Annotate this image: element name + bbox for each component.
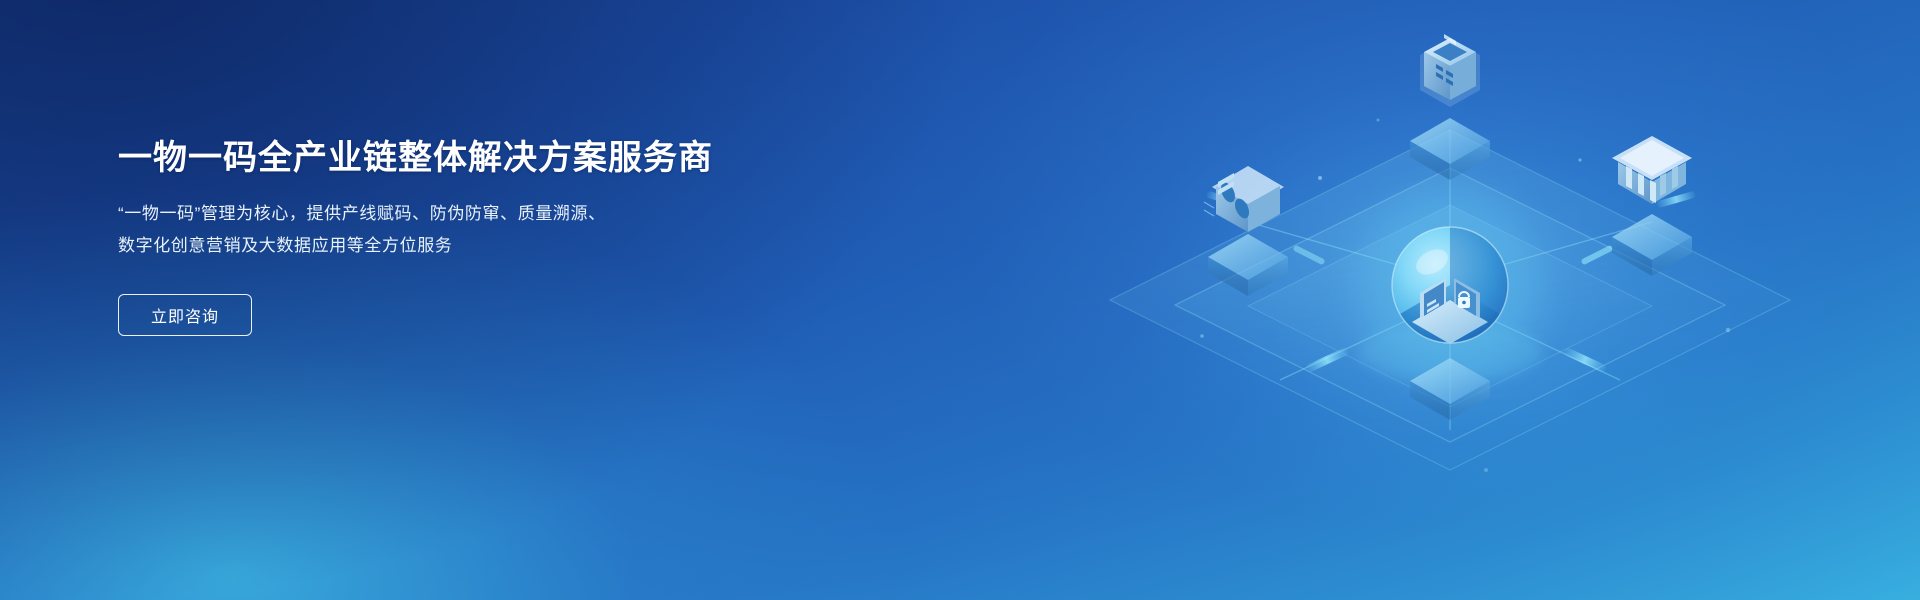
subtitle-line-1: “一物一码”管理为核心，提供产线赋码、防伪防窜、质量溯源、 [118, 198, 818, 230]
hero-subtitle: “一物一码”管理为核心，提供产线赋码、防伪防窜、质量溯源、 数字化创意营销及大数… [118, 198, 818, 262]
consult-now-button[interactable]: 立即咨询 [118, 294, 252, 336]
hero-copy: 一物一码全产业链整体解决方案服务商 “一物一码”管理为核心，提供产线赋码、防伪防… [118, 136, 818, 336]
page-title: 一物一码全产业链整体解决方案服务商 [118, 136, 818, 180]
glowing-sphere-node [1358, 193, 1542, 382]
isometric-illustration [980, 0, 1920, 600]
hero-banner: 一物一码全产业链整体解决方案服务商 “一物一码”管理为核心，提供产线赋码、防伪防… [0, 0, 1920, 600]
subtitle-line-2: 数字化创意营销及大数据应用等全方位服务 [118, 230, 818, 262]
